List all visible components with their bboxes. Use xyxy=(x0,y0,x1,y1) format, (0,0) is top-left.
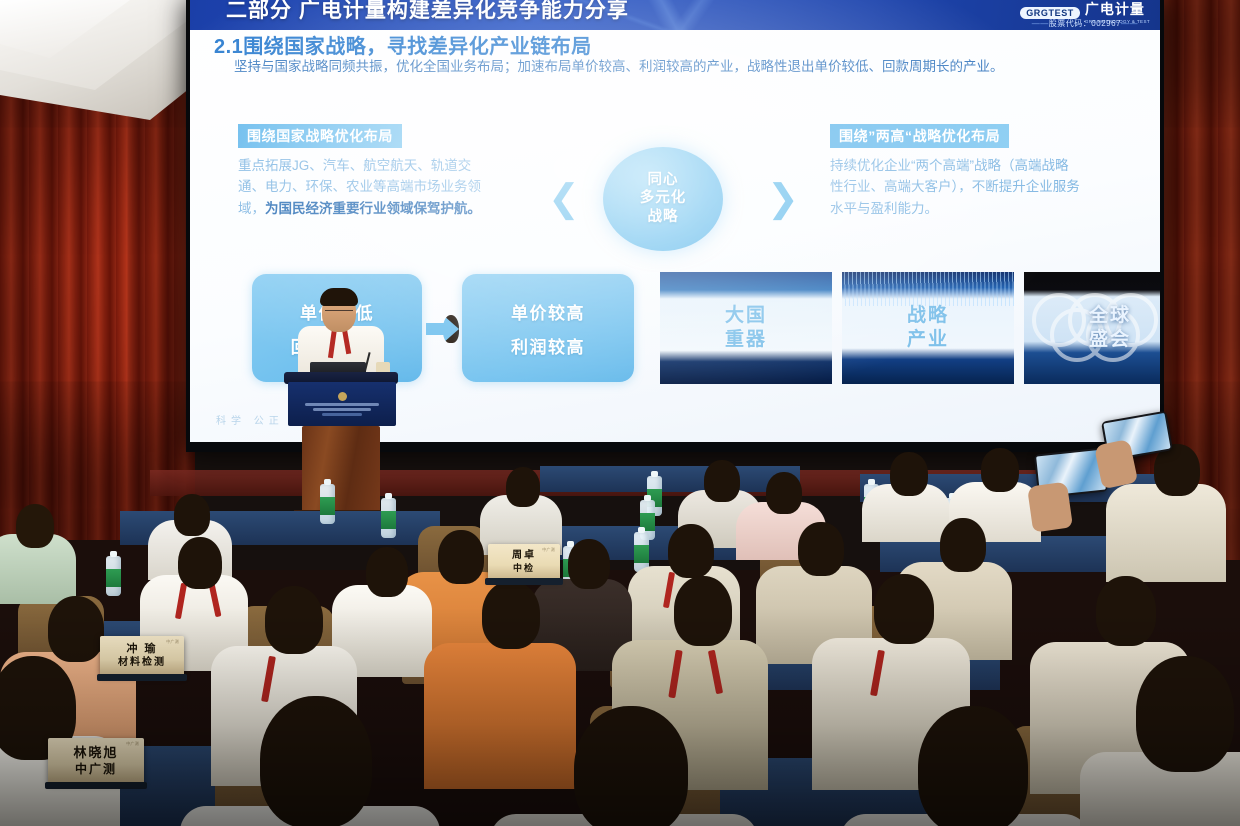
dash-left-icon: —— xyxy=(1032,19,1049,28)
flow-box-to: 单价较高 利润较高 xyxy=(462,274,634,382)
ellipse-line-1: 同心 xyxy=(648,172,679,189)
ellipse-line-2: 多元化 xyxy=(640,190,687,207)
column-left-body: 重点拓展JG、汽车、航空航天、轨道交通、电力、环保、农业等高端市场业务领域，为国… xyxy=(238,155,488,219)
photo-card-3-label: 全球盛会 xyxy=(1089,304,1131,352)
photo-card-2-label: 战略产业 xyxy=(907,304,949,352)
light-rays-icon xyxy=(842,272,1014,306)
flow-to-line-2: 利润较高 xyxy=(511,333,585,358)
placard-org: 中检 xyxy=(513,563,535,574)
grgtest-badge: GRGTEST xyxy=(1020,7,1080,19)
slide-lead-paragraph: 坚持与国家战略同频共振，优化全国业务布局；加速布局单价较高、利润较高的产业，战略… xyxy=(234,56,1134,78)
arrow-head xyxy=(443,315,459,343)
dash-right-icon: —— xyxy=(1121,19,1138,28)
placard-stand xyxy=(97,674,187,681)
table-row xyxy=(540,466,800,492)
placard-logo: 中广测 xyxy=(166,639,179,645)
speaker-hair xyxy=(320,288,358,306)
banner-title: 二部分 广电计量构建差异化竞争能力分享 xyxy=(226,0,629,24)
audience-area: 中广测 林晓旭 中广测 中广测 周卓 中检 中广测 冲 瑜 材料检测 xyxy=(0,406,1240,826)
chevron-right-icon: ❯ xyxy=(767,180,799,218)
placard-name: 林晓旭 xyxy=(73,745,118,761)
placard-org: 材料检测 xyxy=(118,657,166,670)
name-placard: 中广测 林晓旭 中广测 xyxy=(48,738,144,784)
placard-logo: 中广测 xyxy=(542,547,555,553)
center-strategy-ellipse: 同心 多元化 战略 xyxy=(603,147,723,251)
column-right-body: 持续优化企业“两个高端”战略（高端战略性行业、高端大客户），不断提升企业服务水平… xyxy=(830,155,1080,219)
water-bottle xyxy=(381,498,396,538)
column-left-header: 围绕国家战略优化布局 xyxy=(238,124,402,148)
water-bottle xyxy=(106,556,121,596)
photo-card-1-label: 大国重器 xyxy=(725,304,767,352)
stock-code-text: 股票代码：002967 xyxy=(1049,19,1121,28)
column-left-body-bold: 为国民经济重要行业领域保驾护航。 xyxy=(265,201,481,216)
arrow-right-icon xyxy=(426,312,460,346)
placard-stand xyxy=(45,782,147,789)
hand-holding-phone xyxy=(1027,481,1073,532)
ellipse-line-3: 战略 xyxy=(648,209,679,226)
podium-emblem-icon xyxy=(338,392,347,401)
photo-card-3: 全球盛会 xyxy=(1024,272,1160,384)
photo-card-2: 战略产业 xyxy=(842,272,1014,384)
conference-photo: 二部分 广电计量构建差异化竞争能力分享 GRGTEST 广电计量 GRG MET… xyxy=(0,0,1240,826)
placard-name: 周卓 xyxy=(512,550,536,563)
placard-stand xyxy=(485,578,563,585)
slide-heading: 2.1围绕国家战略，寻找差异化产业链布局 xyxy=(214,30,592,59)
column-left: 围绕国家战略优化布局 重点拓展JG、汽车、航空航天、轨道交通、电力、环保、农业等… xyxy=(238,124,488,219)
placard-name: 冲 瑜 xyxy=(126,643,157,657)
column-right: 围绕”两高“战略优化布局 持续优化企业“两个高端”战略（高端战略性行业、高端大客… xyxy=(830,124,1080,219)
name-placard: 中广测 冲 瑜 材料检测 xyxy=(100,636,184,676)
logo-chinese-name: 广电计量 xyxy=(1085,1,1145,17)
speaker-glasses-icon xyxy=(325,310,353,316)
placard-org: 中广测 xyxy=(75,762,117,777)
column-right-header: 围绕”两高“战略优化布局 xyxy=(830,124,1009,148)
name-placard: 中广测 周卓 中检 xyxy=(488,544,560,580)
water-bottle xyxy=(320,484,335,524)
chevron-left-icon: ❮ xyxy=(548,180,580,218)
stock-code: ——股票代码：002967—— xyxy=(1032,18,1138,29)
placard-logo: 中广测 xyxy=(126,741,139,747)
photo-card-1: 大国重器 xyxy=(660,272,832,384)
slide-banner: 二部分 广电计量构建差异化竞争能力分享 GRGTEST 广电计量 GRG MET… xyxy=(190,0,1160,30)
flow-to-line-1: 单价较高 xyxy=(511,299,585,324)
